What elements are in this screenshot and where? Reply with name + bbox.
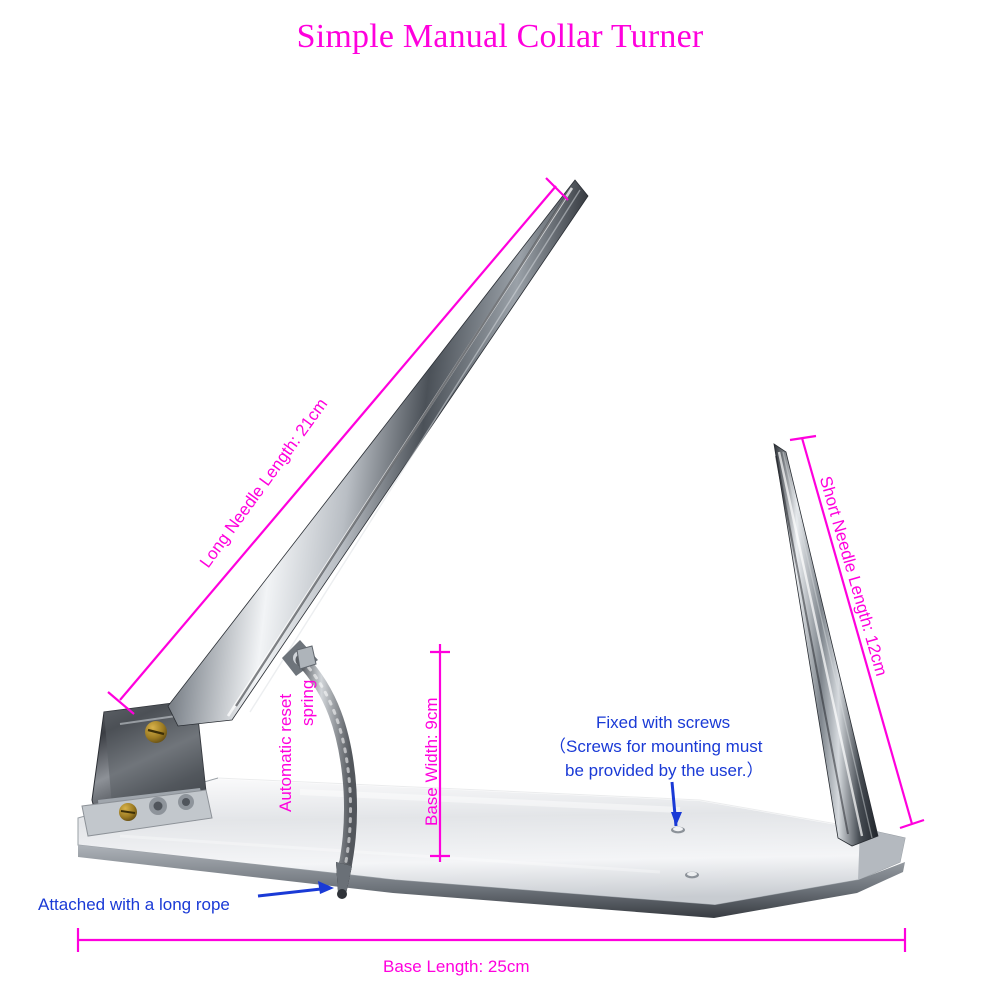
annotation-spring-line2: spring <box>298 680 318 726</box>
product-photo-stage: Simple Manual Collar Turner <box>0 0 1000 1000</box>
annotation-screws-line2: （Screws for mounting must <box>549 736 763 757</box>
annotation-screws-line3: be provided by the user.） <box>565 760 763 781</box>
annotation-rope: Attached with a long rope <box>38 895 230 915</box>
annotation-base-length: Base Length: 25cm <box>383 957 529 977</box>
annotation-lines <box>0 0 1000 1000</box>
annotation-spring-line1: Automatic reset <box>276 694 296 812</box>
annotation-screws-line1: Fixed with screws <box>596 712 730 733</box>
annotation-base-width: Base Width: 9cm <box>422 698 442 827</box>
